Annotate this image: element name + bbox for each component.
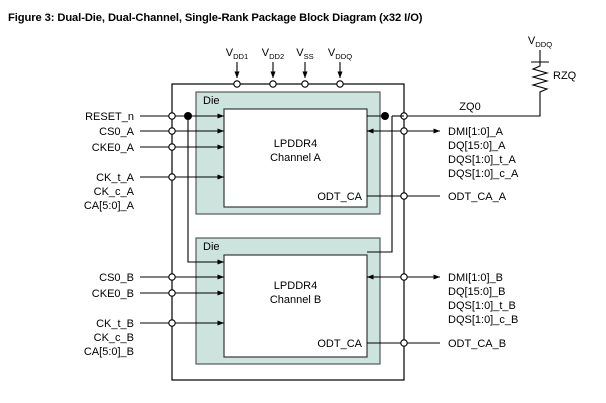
signal-label-dq-b: DQ[15:0]_B xyxy=(448,286,505,298)
signal-label-odt-ca-b: ODT_CA_B xyxy=(448,338,506,350)
power-pin-vdd2-label: VDD2 xyxy=(262,47,285,61)
signal-label-dqs-c-a: DQS[1:0]_c_A xyxy=(448,168,519,180)
signal-label-dqs-c-b: DQS[1:0]_c_B xyxy=(448,314,518,326)
die-a: Die LPDDR4 Channel A ODT_CA xyxy=(196,92,380,214)
package-pin-reset-n xyxy=(169,113,175,119)
channel-b-title-line1: LPDDR4 xyxy=(274,280,317,292)
die-b-label: Die xyxy=(203,241,220,253)
signal-label-reset-n: RESET_n xyxy=(85,111,134,123)
package-pin-cs0-b xyxy=(169,274,175,280)
signal-label-dq-a: DQ[15:0]_A xyxy=(448,140,506,152)
package-pin-dq-a xyxy=(401,128,407,134)
package-pin-cke0-a xyxy=(169,144,175,150)
power-pin-group: VDD1 VDD2 VSS VDDQ xyxy=(226,47,352,87)
block-diagram: Die LPDDR4 Channel A ODT_CA Die LPDDR4 C… xyxy=(0,0,606,403)
signal-label-cs0-b: CS0_B xyxy=(99,272,134,284)
signal-label-ck-c-a: CK_c_A xyxy=(94,186,135,198)
signal-label-cke0-a: CKE0_A xyxy=(92,142,135,154)
power-pin-vddq-label: VDDQ xyxy=(328,47,352,61)
channel-b-odt-internal-label: ODT_CA xyxy=(317,338,362,350)
power-pin-vdd1: VDD1 xyxy=(226,47,249,87)
die-a-label: Die xyxy=(203,95,220,107)
channel-a-odt-internal-label: ODT_CA xyxy=(317,191,362,203)
signal-label-dmi-a: DMI[1:0]_A xyxy=(448,126,504,138)
package-pin-ck-t-a xyxy=(169,174,175,180)
die-b: Die LPDDR4 Channel B ODT_CA xyxy=(196,238,380,364)
right-signals-channel-a: DMI[1:0]_A DQ[15:0]_A DQS[1:0]_t_A DQS[1… xyxy=(367,126,519,203)
power-pin-vddq: VDDQ xyxy=(328,47,352,87)
rzq-resistor-symbol xyxy=(533,62,547,99)
package-pin-ck-t-b xyxy=(169,320,175,326)
power-pin-vss-pad xyxy=(302,81,308,87)
rzq-network: VDDQ RZQ ZQ0 xyxy=(404,35,577,116)
package-pin-odt-ca-a xyxy=(401,193,407,199)
package-pin-cs0-a xyxy=(169,128,175,134)
signal-label-cke0-b: CKE0_B xyxy=(92,288,134,300)
channel-a-title-line1: LPDDR4 xyxy=(274,138,317,150)
signal-label-dqs-t-a: DQS[1:0]_t_A xyxy=(448,154,517,166)
signal-label-odt-ca-a: ODT_CA_A xyxy=(448,191,507,203)
signal-label-dmi-b: DMI[1:0]_B xyxy=(448,272,503,284)
signal-label-cs0-a: CS0_A xyxy=(99,126,135,138)
rzq-supply-label: VDDQ xyxy=(528,35,552,49)
right-signals-channel-b: DMI[1:0]_B DQ[15:0]_B DQS[1:0]_t_B DQS[1… xyxy=(367,272,518,350)
signal-label-ca-a: CA[5:0]_A xyxy=(84,200,135,212)
power-pin-vdd1-label: VDD1 xyxy=(226,47,249,61)
channel-b-title-line2: Channel B xyxy=(270,294,321,306)
package-pin-cke0-b xyxy=(169,290,175,296)
package-pin-odt-ca-b xyxy=(401,340,407,346)
signal-label-ca-b: CA[5:0]_B xyxy=(84,346,134,358)
signal-label-ck-t-b: CK_t_B xyxy=(96,318,134,330)
power-pin-vdd2-pad xyxy=(270,81,276,87)
power-pin-vddq-pad xyxy=(337,81,343,87)
channel-a-title-line2: Channel A xyxy=(270,152,321,164)
signal-label-ck-t-a: CK_t_A xyxy=(96,172,135,184)
power-pin-vdd1-pad xyxy=(234,81,240,87)
package-pin-dq-b xyxy=(401,274,407,280)
signal-label-dqs-t-b: DQS[1:0]_t_B xyxy=(448,300,516,312)
power-pin-vss: VSS xyxy=(296,47,313,87)
power-pin-vdd2: VDD2 xyxy=(262,47,285,87)
power-pin-vss-label: VSS xyxy=(296,47,313,61)
rzq-label: RZQ xyxy=(553,70,577,82)
zq0-net-label: ZQ0 xyxy=(459,101,480,113)
signal-label-ck-c-b: CK_c_B xyxy=(94,332,134,344)
